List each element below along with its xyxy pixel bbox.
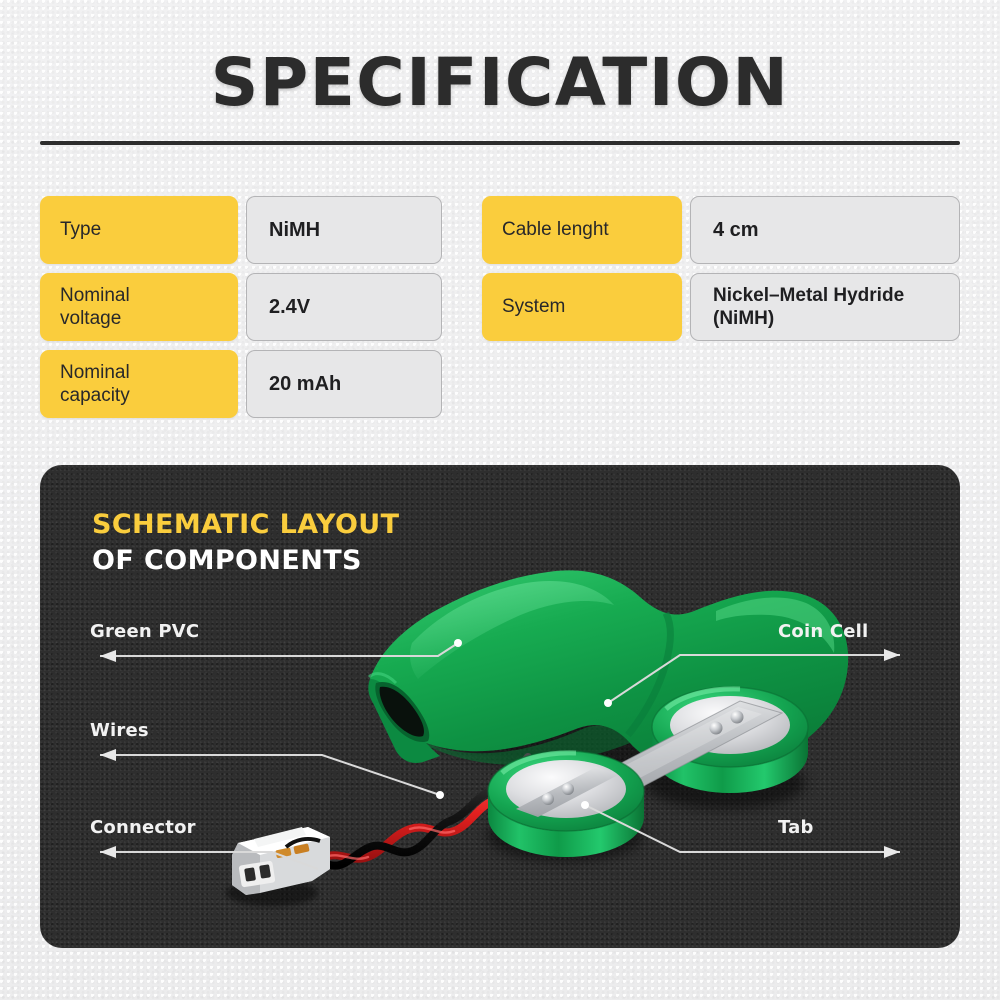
callout-label-tab: Tab — [778, 817, 814, 838]
table-row: System Nickel–Metal Hydride (NiMH) — [482, 273, 960, 341]
table-row: Nominal voltage 2.4V — [40, 273, 442, 341]
callout-label-wires: Wires — [90, 720, 149, 741]
callout-label-coin-cell: Coin Cell — [778, 621, 868, 642]
spec-key-type: Type — [40, 196, 238, 264]
spec-table-left: Type NiMH Nominal voltage 2.4V Nominal c… — [40, 196, 442, 427]
spec-key-nominal-capacity: Nominal capacity — [40, 350, 238, 418]
table-row: Nominal capacity 20 mAh — [40, 350, 442, 418]
spec-value-cable-lenght: 4 cm — [690, 196, 960, 264]
callout-label-green-pvc: Green PVC — [90, 621, 199, 642]
anchor-wires — [436, 791, 444, 799]
spec-value-type: NiMH — [246, 196, 442, 264]
callout-label-connector: Connector — [90, 817, 196, 838]
table-row: Cable lenght 4 cm — [482, 196, 960, 264]
spec-table-right: Cable lenght 4 cm System Nickel–Metal Hy… — [482, 196, 960, 350]
schematic-layout-panel: SCHEMATIC LAYOUT OF COMPONENTS — [40, 465, 960, 948]
anchor-tab — [581, 801, 589, 809]
spec-key-system: System — [482, 273, 682, 341]
spec-value-system: Nickel–Metal Hydride (NiMH) — [690, 273, 960, 341]
page-title: SPECIFICATION — [0, 44, 1000, 121]
leader-connector — [100, 852, 318, 869]
arrowhead-tab — [884, 846, 900, 858]
arrowhead-wires — [100, 749, 116, 761]
leader-tab — [585, 805, 900, 852]
specification-infographic: SPECIFICATION Type NiMH Nominal voltage … — [0, 0, 1000, 1000]
spec-key-nominal-voltage: Nominal voltage — [40, 273, 238, 341]
arrowhead-green-pvc — [100, 650, 116, 662]
anchor-coin-cell — [604, 699, 612, 707]
callout-leader-lines — [40, 465, 960, 948]
title-divider — [40, 141, 960, 145]
spec-value-nominal-capacity: 20 mAh — [246, 350, 442, 418]
spec-value-nominal-voltage: 2.4V — [246, 273, 442, 341]
anchor-green-pvc — [454, 639, 462, 647]
spec-key-cable-lenght: Cable lenght — [482, 196, 682, 264]
arrowhead-connector — [100, 846, 116, 858]
arrowhead-coin-cell — [884, 649, 900, 661]
leader-green-pvc — [100, 643, 458, 656]
leader-wires — [100, 755, 440, 795]
leader-coin-cell — [608, 655, 900, 703]
table-row: Type NiMH — [40, 196, 442, 264]
